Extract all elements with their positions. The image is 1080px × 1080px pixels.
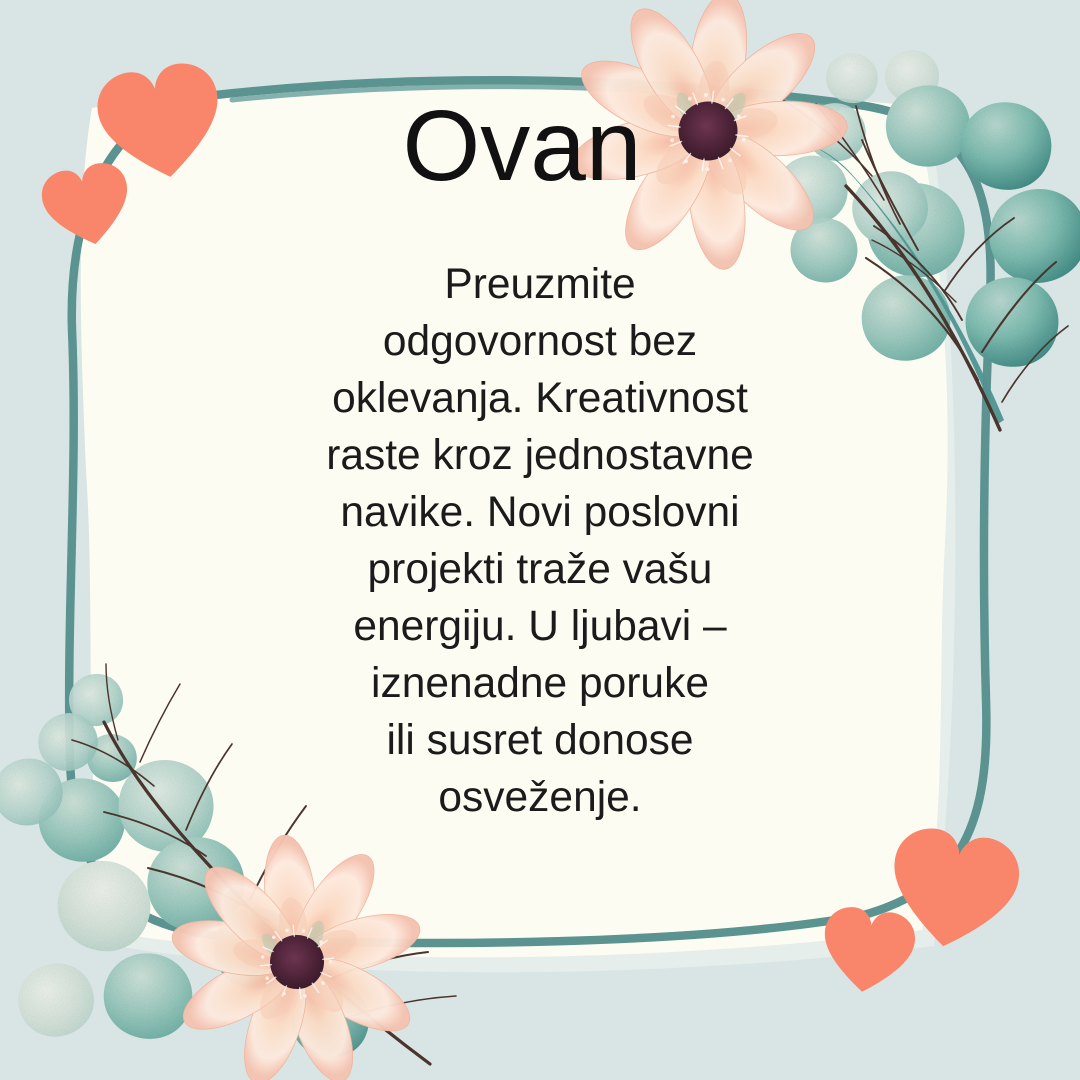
decorative-background	[0, 0, 1080, 1080]
horoscope-card: Ovan Preuzmite odgovornost bez oklevanja…	[0, 0, 1080, 1080]
